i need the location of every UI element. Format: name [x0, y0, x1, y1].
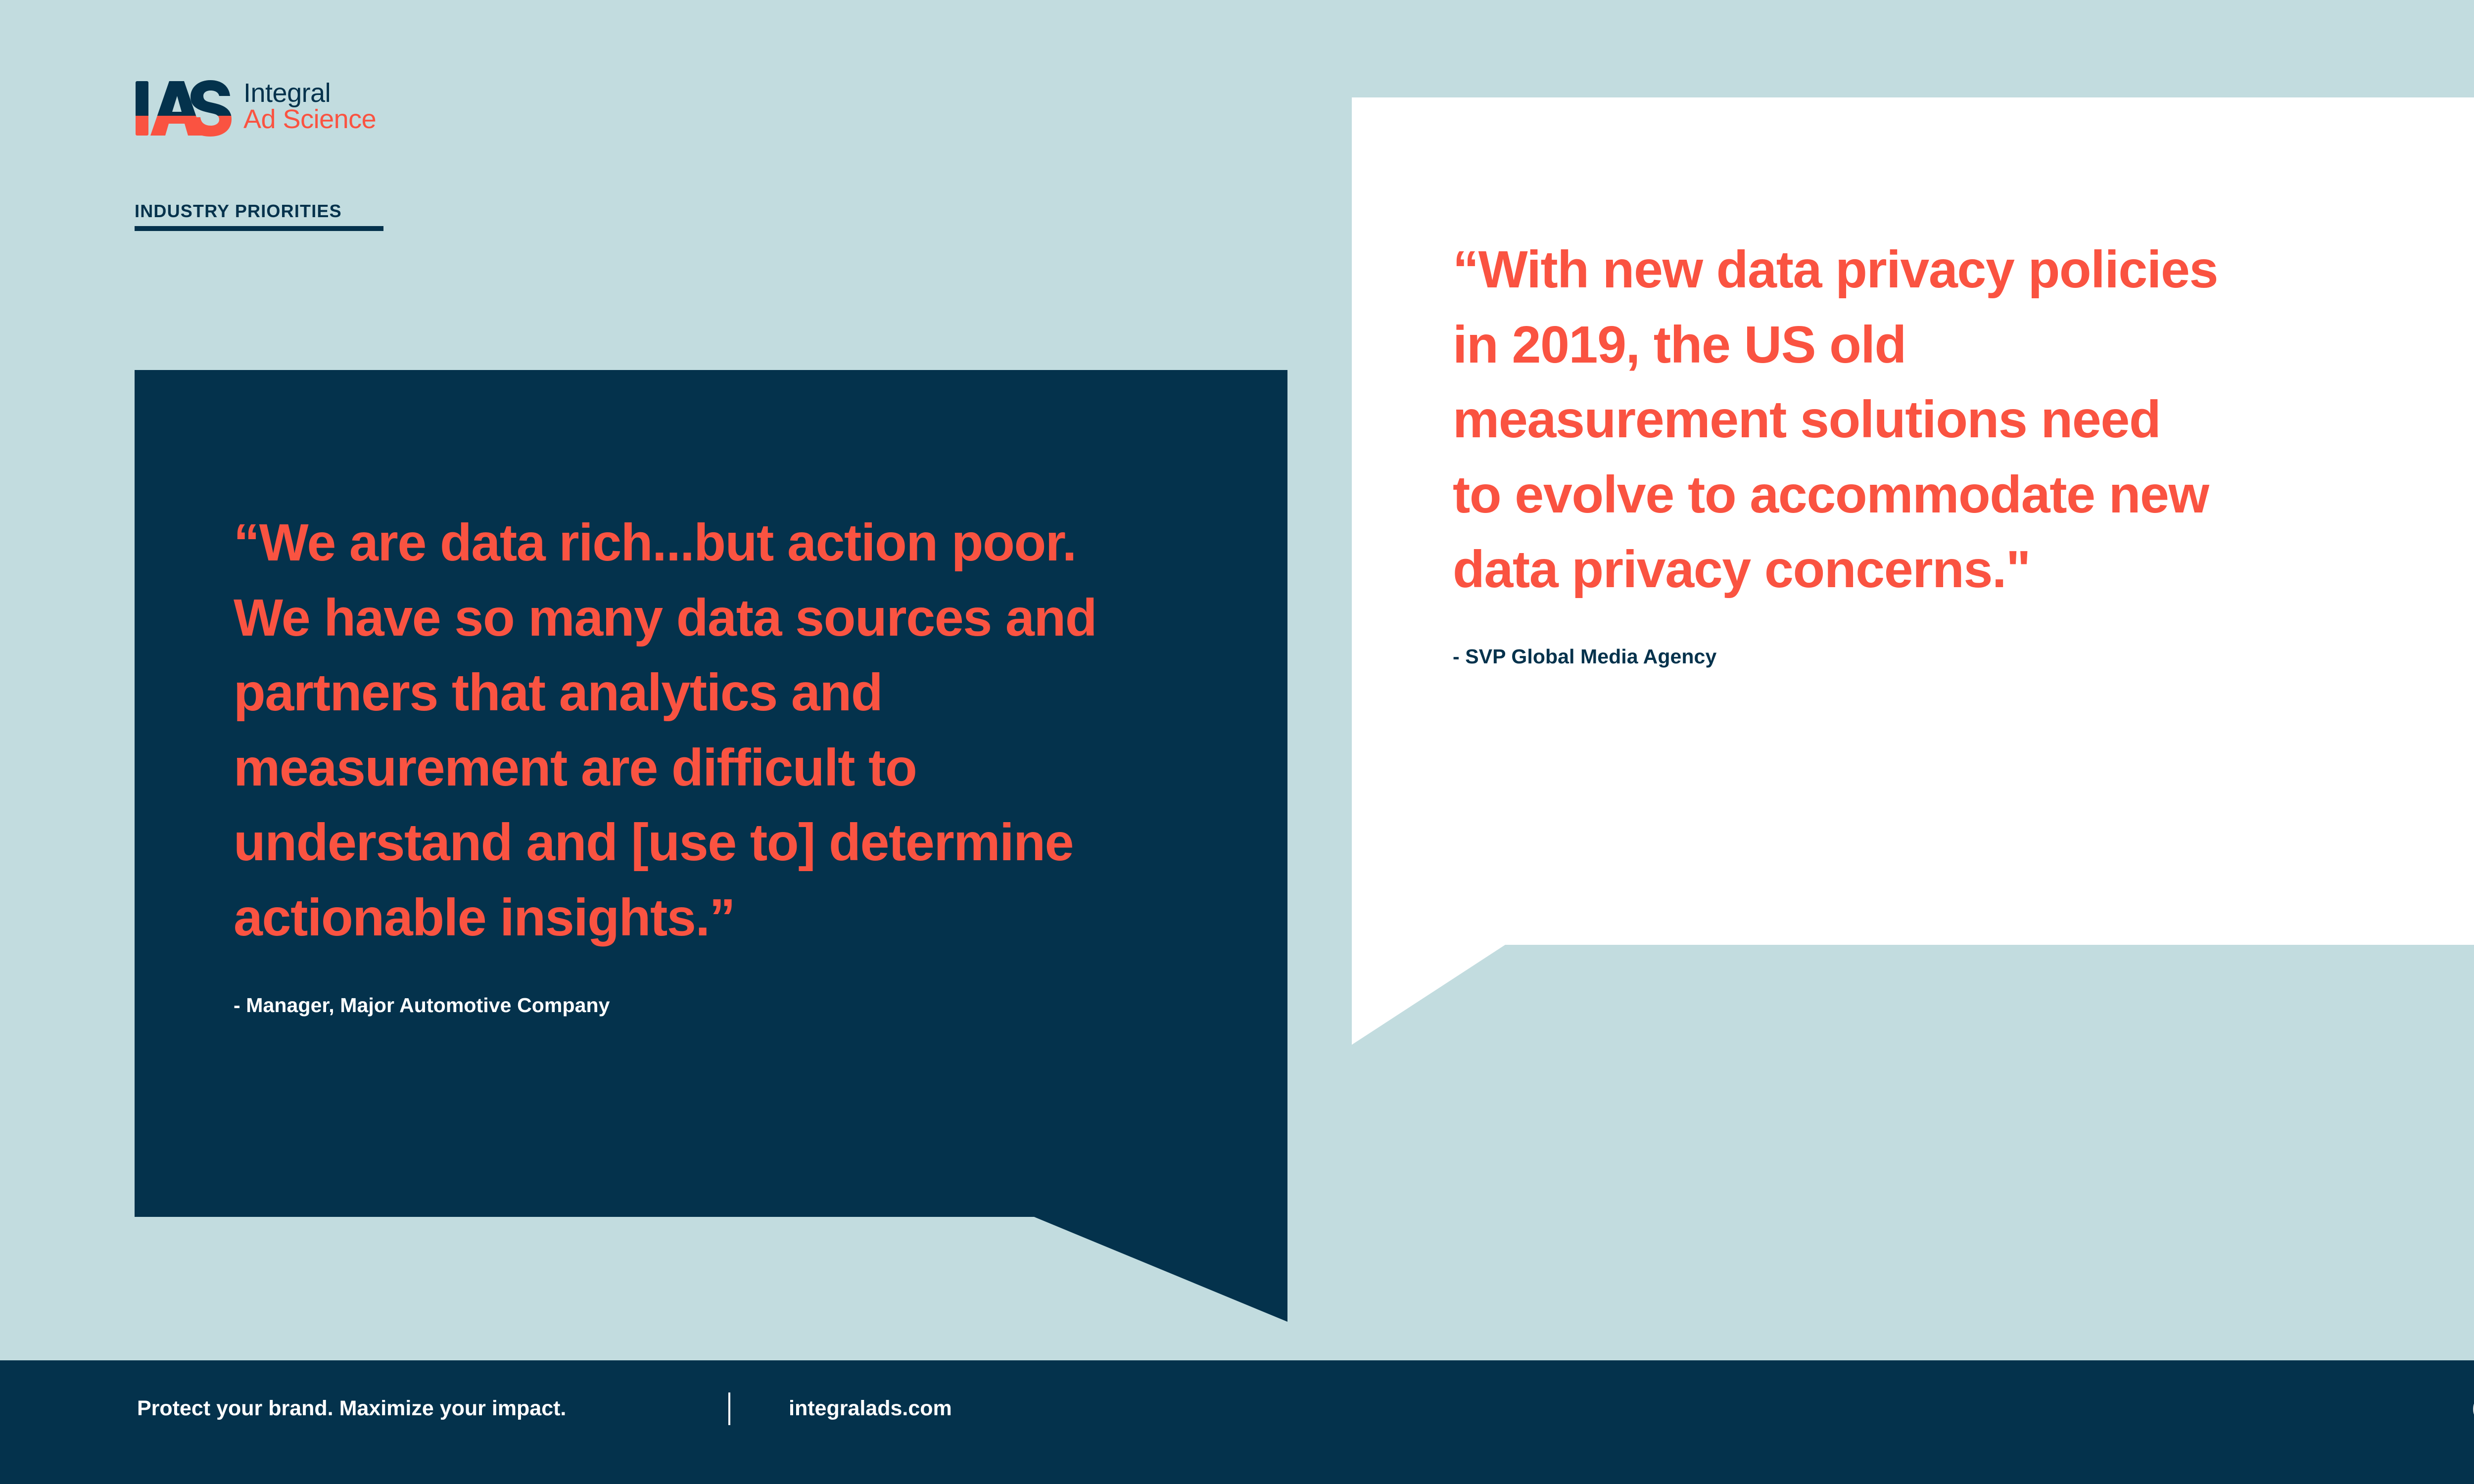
quote-card-media-agency-tail	[1352, 945, 1505, 1045]
ias-logo-wordmark: Integral Ad Science	[243, 79, 376, 133]
quote-attribution-media-agency: - SVP Global Media Agency	[1453, 645, 2418, 668]
footer-tagline: Protect your brand. Maximize your impact…	[137, 1396, 566, 1421]
footer-website-url[interactable]: integralads.com	[789, 1396, 952, 1421]
section-eyebrow-label: INDUSTRY PRIORITIES	[135, 201, 383, 222]
quote-card-automotive-tail	[1034, 1217, 1287, 1322]
quote-text-automotive: “We are data rich...but action poor. We …	[234, 506, 1253, 955]
quote-attribution-automotive: - Manager, Major Automotive Company	[234, 994, 1253, 1017]
quote-card-automotive-content: “We are data rich...but action poor. We …	[234, 506, 1253, 1017]
section-eyebrow: INDUSTRY PRIORITIES	[135, 201, 383, 231]
footer-page-number: 08	[2472, 1395, 2474, 1424]
ias-logo-mark-icon	[135, 79, 232, 138]
ias-logo: Integral Ad Science	[135, 79, 376, 138]
quote-card-media-agency-content: “With new data privacy policies in 2019,…	[1453, 232, 2418, 668]
section-eyebrow-underline	[135, 226, 383, 231]
slide-canvas: Integral Ad Science INDUSTRY PRIORITIES …	[0, 0, 2474, 1484]
footer-divider	[728, 1392, 730, 1425]
ias-logo-line-ad-science: Ad Science	[243, 106, 376, 133]
ias-logo-line-integral: Integral	[243, 80, 376, 106]
slide-footer	[0, 1360, 2474, 1484]
quote-text-media-agency: “With new data privacy policies in 2019,…	[1453, 232, 2418, 607]
